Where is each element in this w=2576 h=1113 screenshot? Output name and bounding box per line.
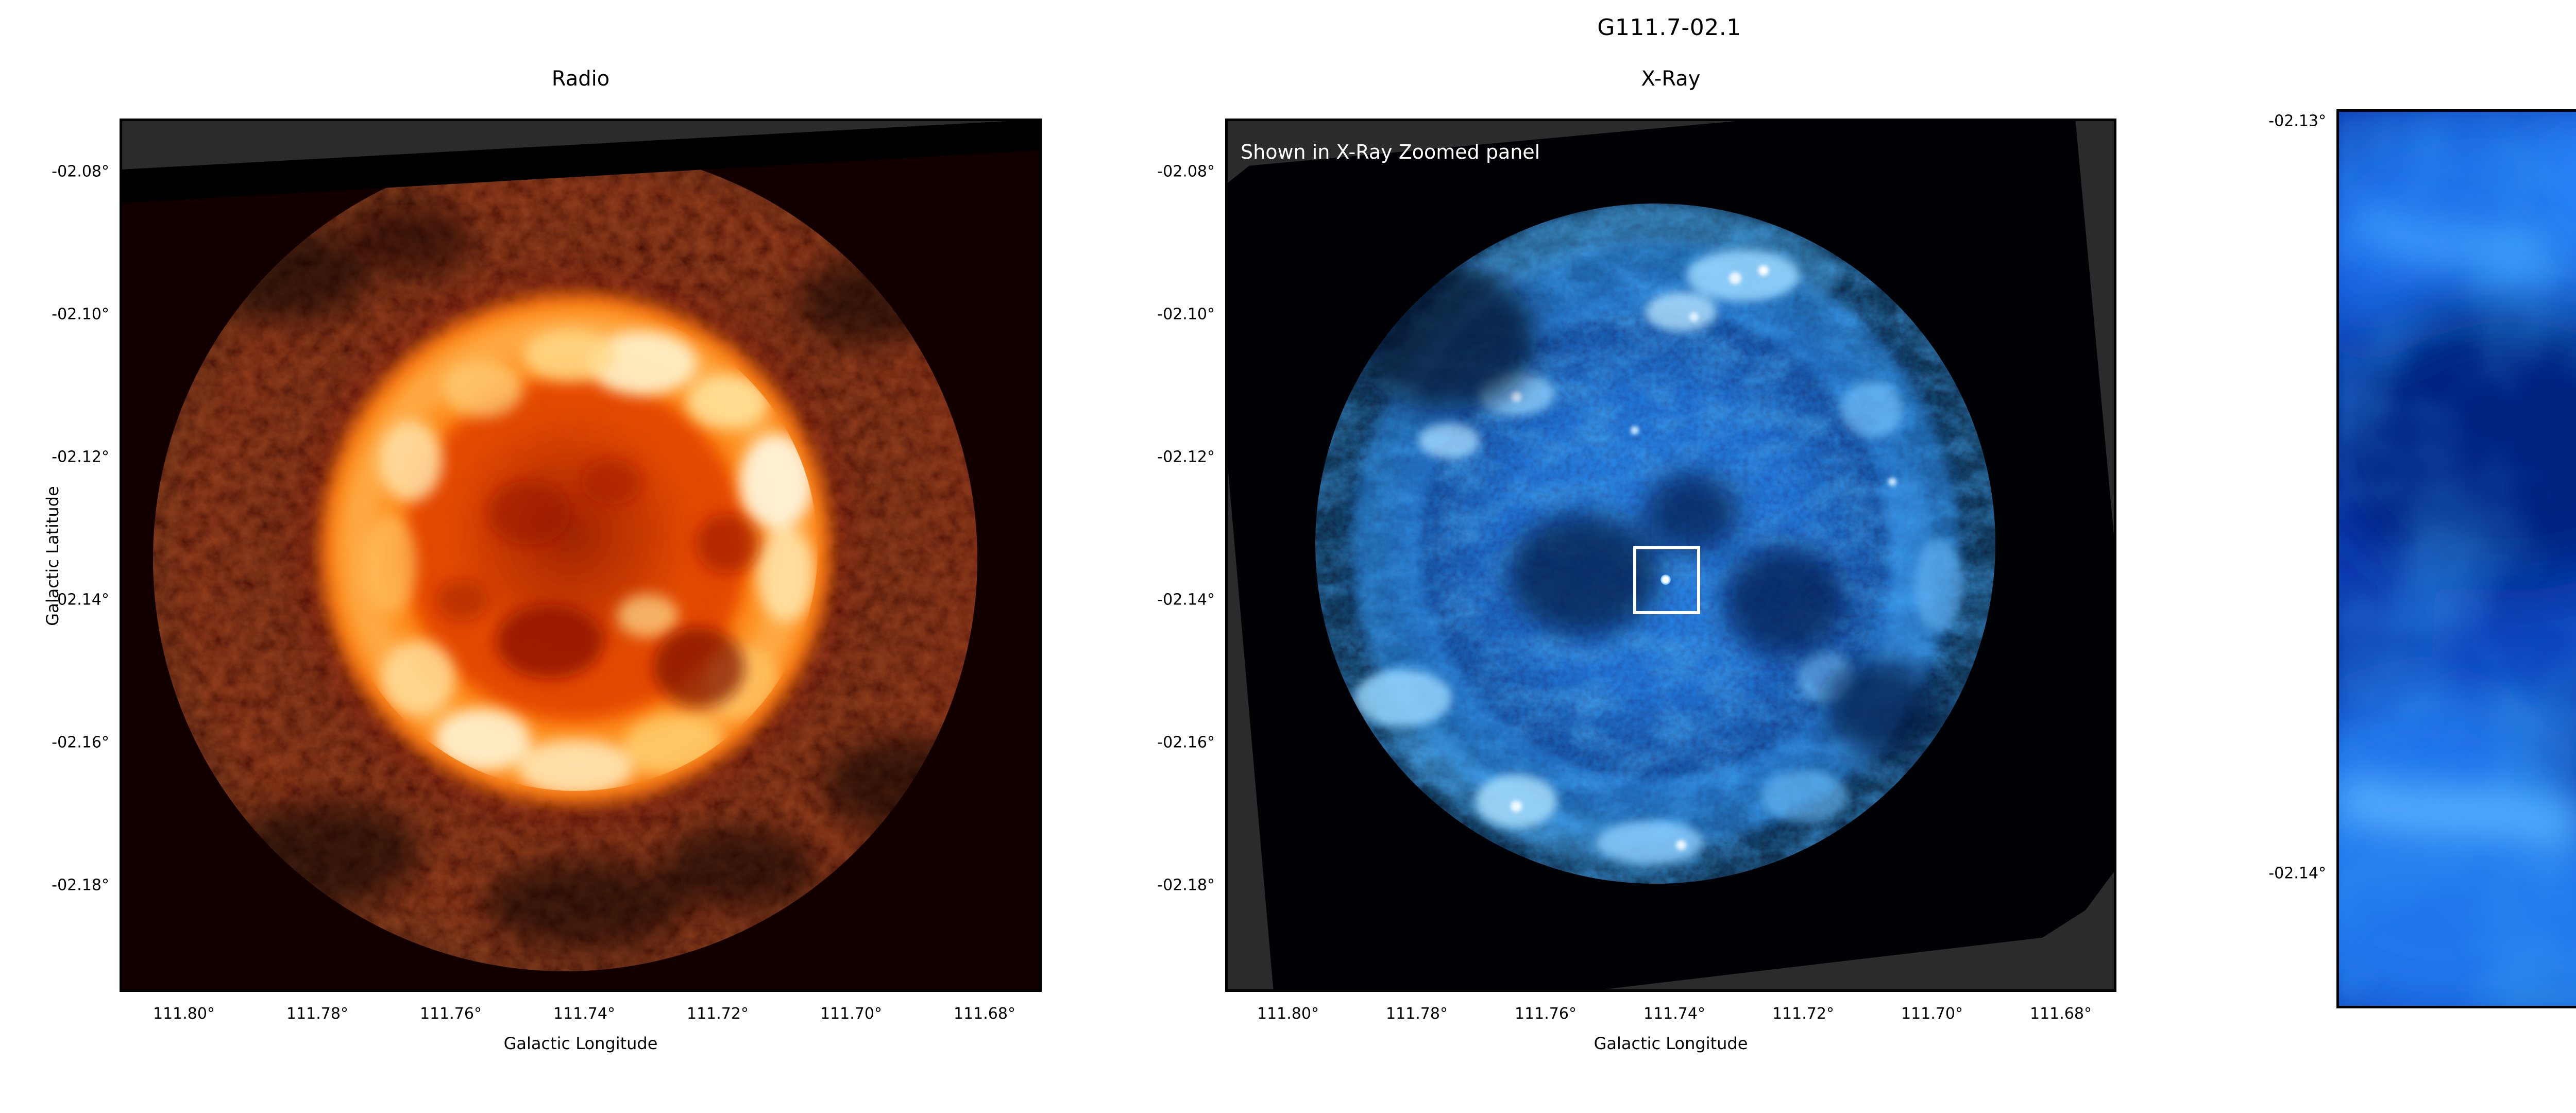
xray-zoomed-image bbox=[2339, 112, 2576, 1008]
panel-radio-axes[interactable] bbox=[120, 119, 1042, 992]
radio-ylabel: Galactic Latitude bbox=[43, 453, 62, 659]
xray-ytick-2: -02.12° bbox=[1096, 448, 1215, 466]
xray-ytick-5: -02.18° bbox=[1096, 876, 1215, 895]
panel-radio: Radio bbox=[120, 67, 1042, 1061]
figure-title: G111.7-02.1 bbox=[0, 14, 2576, 41]
xray-ytick-0: -02.08° bbox=[1096, 163, 1215, 181]
radio-ytick-0: -02.08° bbox=[0, 163, 109, 181]
xray-ytick-1: -02.10° bbox=[1096, 306, 1215, 324]
xray-xtick-2: 111.76° bbox=[1515, 1005, 1577, 1023]
xray-xtick-1: 111.78° bbox=[1386, 1005, 1448, 1023]
xray-xtick-6: 111.68° bbox=[2030, 1005, 2092, 1023]
radio-xtick-1: 111.78° bbox=[286, 1005, 348, 1023]
xray-xlabel: Galactic Longitude bbox=[1225, 1034, 2116, 1053]
radio-xtick-4: 111.72° bbox=[687, 1005, 749, 1023]
panel-radio-title: Radio bbox=[120, 67, 1042, 91]
radio-image bbox=[122, 121, 1042, 992]
xray-zoomed-xlabel: Galactic Longitude bbox=[2336, 1050, 2576, 1070]
radio-xtick-3: 111.74° bbox=[553, 1005, 615, 1023]
xray-xtick-0: 111.80° bbox=[1257, 1005, 1319, 1023]
radio-xtick-6: 111.68° bbox=[954, 1005, 1015, 1023]
panel-xray-title: X-Ray bbox=[1225, 67, 2116, 91]
panel-xray: X-Ray bbox=[1225, 67, 2116, 1061]
radio-ytick-1: -02.10° bbox=[0, 306, 109, 324]
xray-xtick-5: 111.70° bbox=[1901, 1005, 1963, 1023]
radio-xtick-2: 111.76° bbox=[420, 1005, 482, 1023]
panel-xray-zoomed-title: X-Ray Zoomed bbox=[2336, 67, 2576, 91]
radio-ytick-5: -02.18° bbox=[0, 876, 109, 895]
zoom-region-box[interactable] bbox=[1633, 546, 1700, 614]
xray-xtick-4: 111.72° bbox=[1772, 1005, 1834, 1023]
xray-xtick-3: 111.74° bbox=[1643, 1005, 1705, 1023]
xray-zoomed-ytick-1: -02.14° bbox=[2208, 865, 2326, 883]
panel-xray-zoomed-axes[interactable] bbox=[2336, 109, 2576, 1008]
xray-ytick-4: -02.16° bbox=[1096, 734, 1215, 752]
radio-ytick-4: -02.16° bbox=[0, 734, 109, 752]
xray-zoomed-ytick-0: -02.13° bbox=[2208, 112, 2326, 130]
radio-xtick-0: 111.80° bbox=[153, 1005, 215, 1023]
radio-xlabel: Galactic Longitude bbox=[120, 1034, 1042, 1053]
xray-zoom-annotation: Shown in X-Ray Zoomed panel bbox=[1241, 141, 1540, 163]
panel-xray-zoomed: X-Ray Zoomed bbox=[2336, 67, 2576, 1061]
radio-xtick-5: 111.70° bbox=[820, 1005, 882, 1023]
xray-ytick-3: -02.14° bbox=[1096, 591, 1215, 609]
